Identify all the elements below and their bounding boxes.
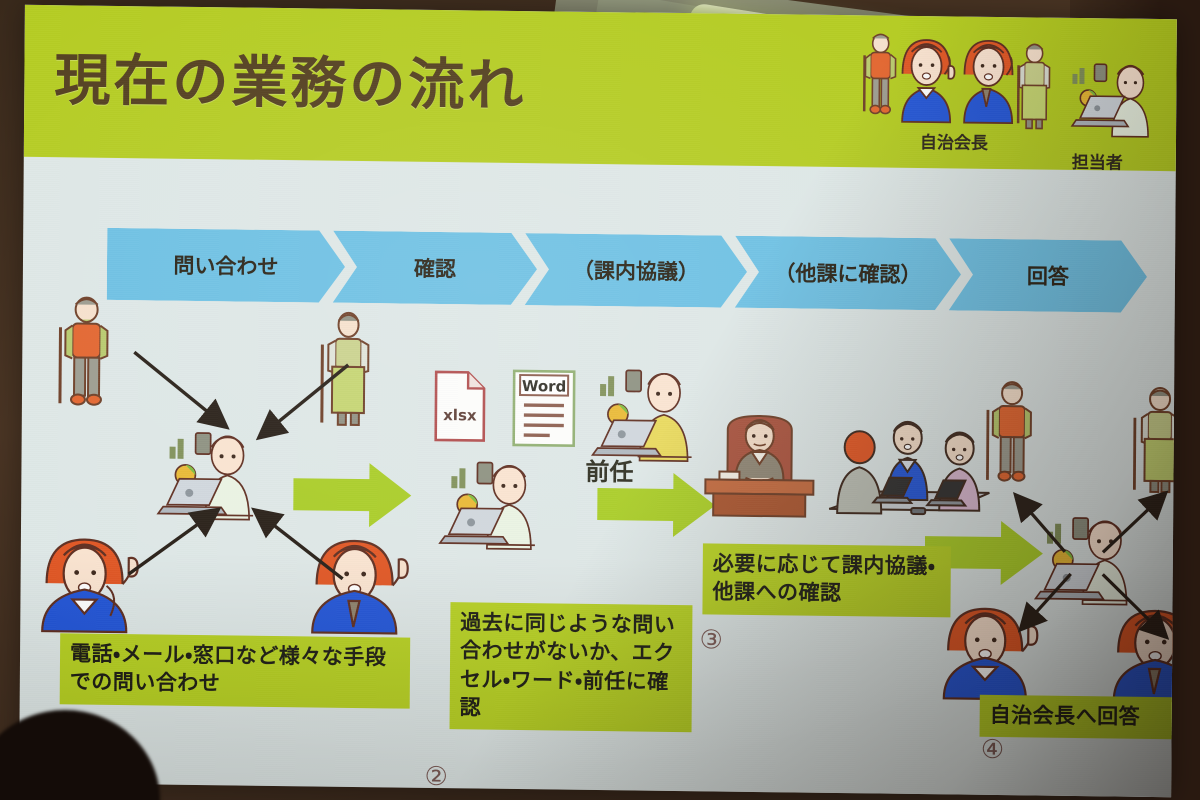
- caption-number-3: ③: [696, 625, 726, 655]
- figure-staff-laptop-2: [435, 448, 548, 561]
- flow-arrow-1: [293, 458, 414, 532]
- page-title: 現在の業務の流れ: [54, 35, 527, 122]
- legend-label-chairman: 自治会長: [920, 128, 988, 154]
- legend-label-staff: 担当者: [1072, 148, 1123, 174]
- caption-2: 過去に同じような問い合わせがないか、エクセル・ワード・前任に確認: [450, 602, 693, 732]
- word-file-icon: Word: [510, 365, 583, 454]
- process-step-1-label: 問い合わせ: [167, 250, 284, 281]
- arrow-elderly-woman-to-staff: [256, 360, 353, 447]
- process-step-3-label: （課内協議）: [567, 255, 705, 287]
- projected-slide: 現在の業務の流れ: [19, 5, 1177, 797]
- arrow-staff-to-woman-right: [1096, 570, 1173, 641]
- excel-file-icon: xlsx: [430, 368, 491, 449]
- photo-canvas: 現在の業務の流れ: [0, 0, 1200, 800]
- process-step-5-label: 回答: [1021, 260, 1075, 291]
- process-step-3[interactable]: （課内協議）: [525, 233, 748, 308]
- arrow-man-to-staff: [130, 346, 241, 437]
- arrow-staff-to-man: [1013, 493, 1073, 556]
- process-step-4[interactable]: （他課に確認）: [735, 236, 962, 311]
- figure-elderly-man-standing: [52, 293, 125, 414]
- legend-figures-icon: [858, 21, 1159, 165]
- figure-boss-at-desk: [701, 409, 818, 520]
- figure-elderly-woman-reply: [1125, 385, 1177, 504]
- svg-text:xlsx: xlsx: [443, 406, 477, 424]
- legend: 自治会長 担当者: [858, 21, 1159, 165]
- figure-meeting-group: [823, 413, 996, 531]
- caption-3: 必要に応じて課内協議・他課への確認: [702, 543, 951, 617]
- arrow-woman-left-to-staff: [125, 506, 222, 581]
- caption-number-4: ④: [977, 735, 1007, 765]
- process-flow-band: 問い合わせ 確認 （課内協議） （他課に確認） 回答: [107, 228, 1148, 313]
- process-step-5[interactable]: 回答: [949, 238, 1148, 312]
- caption-number-2: ②: [421, 762, 451, 792]
- svg-text:Word: Word: [522, 377, 567, 396]
- caption-4: 自治会長へ回答: [980, 695, 1177, 740]
- process-step-2-label: 確認: [408, 253, 462, 284]
- slide-header: 現在の業務の流れ: [24, 5, 1177, 171]
- process-step-2[interactable]: 確認: [333, 231, 538, 306]
- figure-elderly-man-reply: [979, 379, 1046, 492]
- process-step-1[interactable]: 問い合わせ: [107, 228, 346, 303]
- flow-arrow-2: [597, 468, 718, 542]
- arrow-staff-to-woman-left: [1016, 569, 1078, 632]
- process-step-4-label: （他課に確認）: [768, 257, 927, 289]
- caption-1: 電話・メール・窓口など様々な手段での問い合わせ: [60, 633, 411, 708]
- arrow-staff-to-elderly-woman: [1097, 490, 1169, 557]
